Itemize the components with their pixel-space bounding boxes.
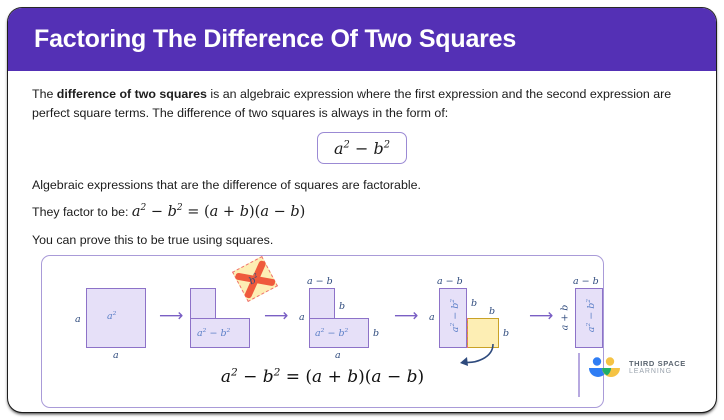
arrow-3: ⟶ <box>394 308 418 325</box>
figure-1-left-label: a <box>75 314 81 325</box>
brand-logo-text: THIRD SPACE LEARNING <box>629 360 686 375</box>
factorable-line: Algebraic expressions that are the diffe… <box>32 178 692 192</box>
figure-5-final-rect: a − b a + b a2 − b2 <box>547 266 637 366</box>
third-space-learning-logo-icon <box>586 356 622 380</box>
page-title: Factoring The Difference Of Two Squares <box>34 25 516 54</box>
prove-line: You can prove this to be true using squa… <box>32 233 692 247</box>
figure-4-top-label: a − b <box>437 276 463 287</box>
figure-4-yellow-top-label: b <box>489 306 495 317</box>
figure-3-bottom-label: a <box>335 350 341 361</box>
lesson-card: Factoring The Difference Of Two Squares … <box>8 8 716 412</box>
rotate-arrow-icon <box>453 342 499 368</box>
figure-3-left-label: a <box>299 312 305 323</box>
brand-name-line2: LEARNING <box>629 368 686 375</box>
figure-4-rearranged: a − b a b a2 − b2 b b <box>417 266 537 366</box>
figure-5-left-label: a + b <box>559 305 570 331</box>
diagram-figure-row: a a a2 ⟶ a2 − b2 b2 ⟶ <box>42 256 603 366</box>
logo-head-blue <box>593 357 601 365</box>
lesson-body: The difference of two squares is an alge… <box>8 71 716 247</box>
proof-diagram: a a a2 ⟶ a2 − b2 b2 ⟶ <box>41 255 604 408</box>
brand-logo: THIRD SPACE LEARNING <box>586 356 686 380</box>
figure-4-left-label: a <box>429 312 435 323</box>
formula-box: a2 − b2 <box>317 132 407 164</box>
figure-3-top-label: a − b <box>307 276 333 287</box>
diagram-bottom-equation: a2 − b2 = (a + b)(a − b) <box>42 366 603 387</box>
figure-5-inner-label: a2 − b2 <box>586 299 597 332</box>
figure-3-inner-right-label: b <box>339 301 345 312</box>
figure-1-square: a a a2 <box>64 278 159 358</box>
intro-paragraph: The difference of two squares is an alge… <box>32 85 692 123</box>
figure-4-yellow-right-label: b <box>503 328 509 339</box>
figure-3-inner-label: a2 − b2 <box>315 328 348 339</box>
figure-4-inner-right-label: b <box>471 298 477 309</box>
arrow-2: ⟶ <box>264 308 288 325</box>
figure-3-labeled-lshape: a − b a b a2 − b2 b a <box>287 266 397 366</box>
formula-box-text: a2 − b2 <box>334 139 390 158</box>
intro-text-a: The <box>32 87 57 101</box>
brand-name-line1: THIRD SPACE <box>629 360 686 368</box>
factor-line: They factor to be: a2 − b2 = (a + b)(a −… <box>32 203 692 220</box>
logo-divider <box>578 353 580 397</box>
arrow-1: ⟶ <box>159 308 183 325</box>
figure-1-bottom-label: a <box>113 350 119 361</box>
factor-line-formula: a2 − b2 = (a + b)(a − b) <box>132 204 305 220</box>
page-header: Factoring The Difference Of Two Squares <box>8 8 716 71</box>
intro-text-bold: difference of two squares <box>57 87 207 101</box>
figure-2-inner-label: a2 − b2 <box>197 328 230 339</box>
figure-5-top-label: a − b <box>573 276 599 287</box>
figure-1-inner-label: a2 <box>107 311 116 322</box>
diagram-bottom-equation-text: a2 − b2 = (a + b)(a − b) <box>221 367 424 387</box>
figure-4-inner-label: a2 − b2 <box>450 299 461 332</box>
logo-head-yellow <box>606 357 614 365</box>
factor-line-label: They factor to be: <box>32 205 132 219</box>
figure-3-right-label: b <box>373 328 379 339</box>
